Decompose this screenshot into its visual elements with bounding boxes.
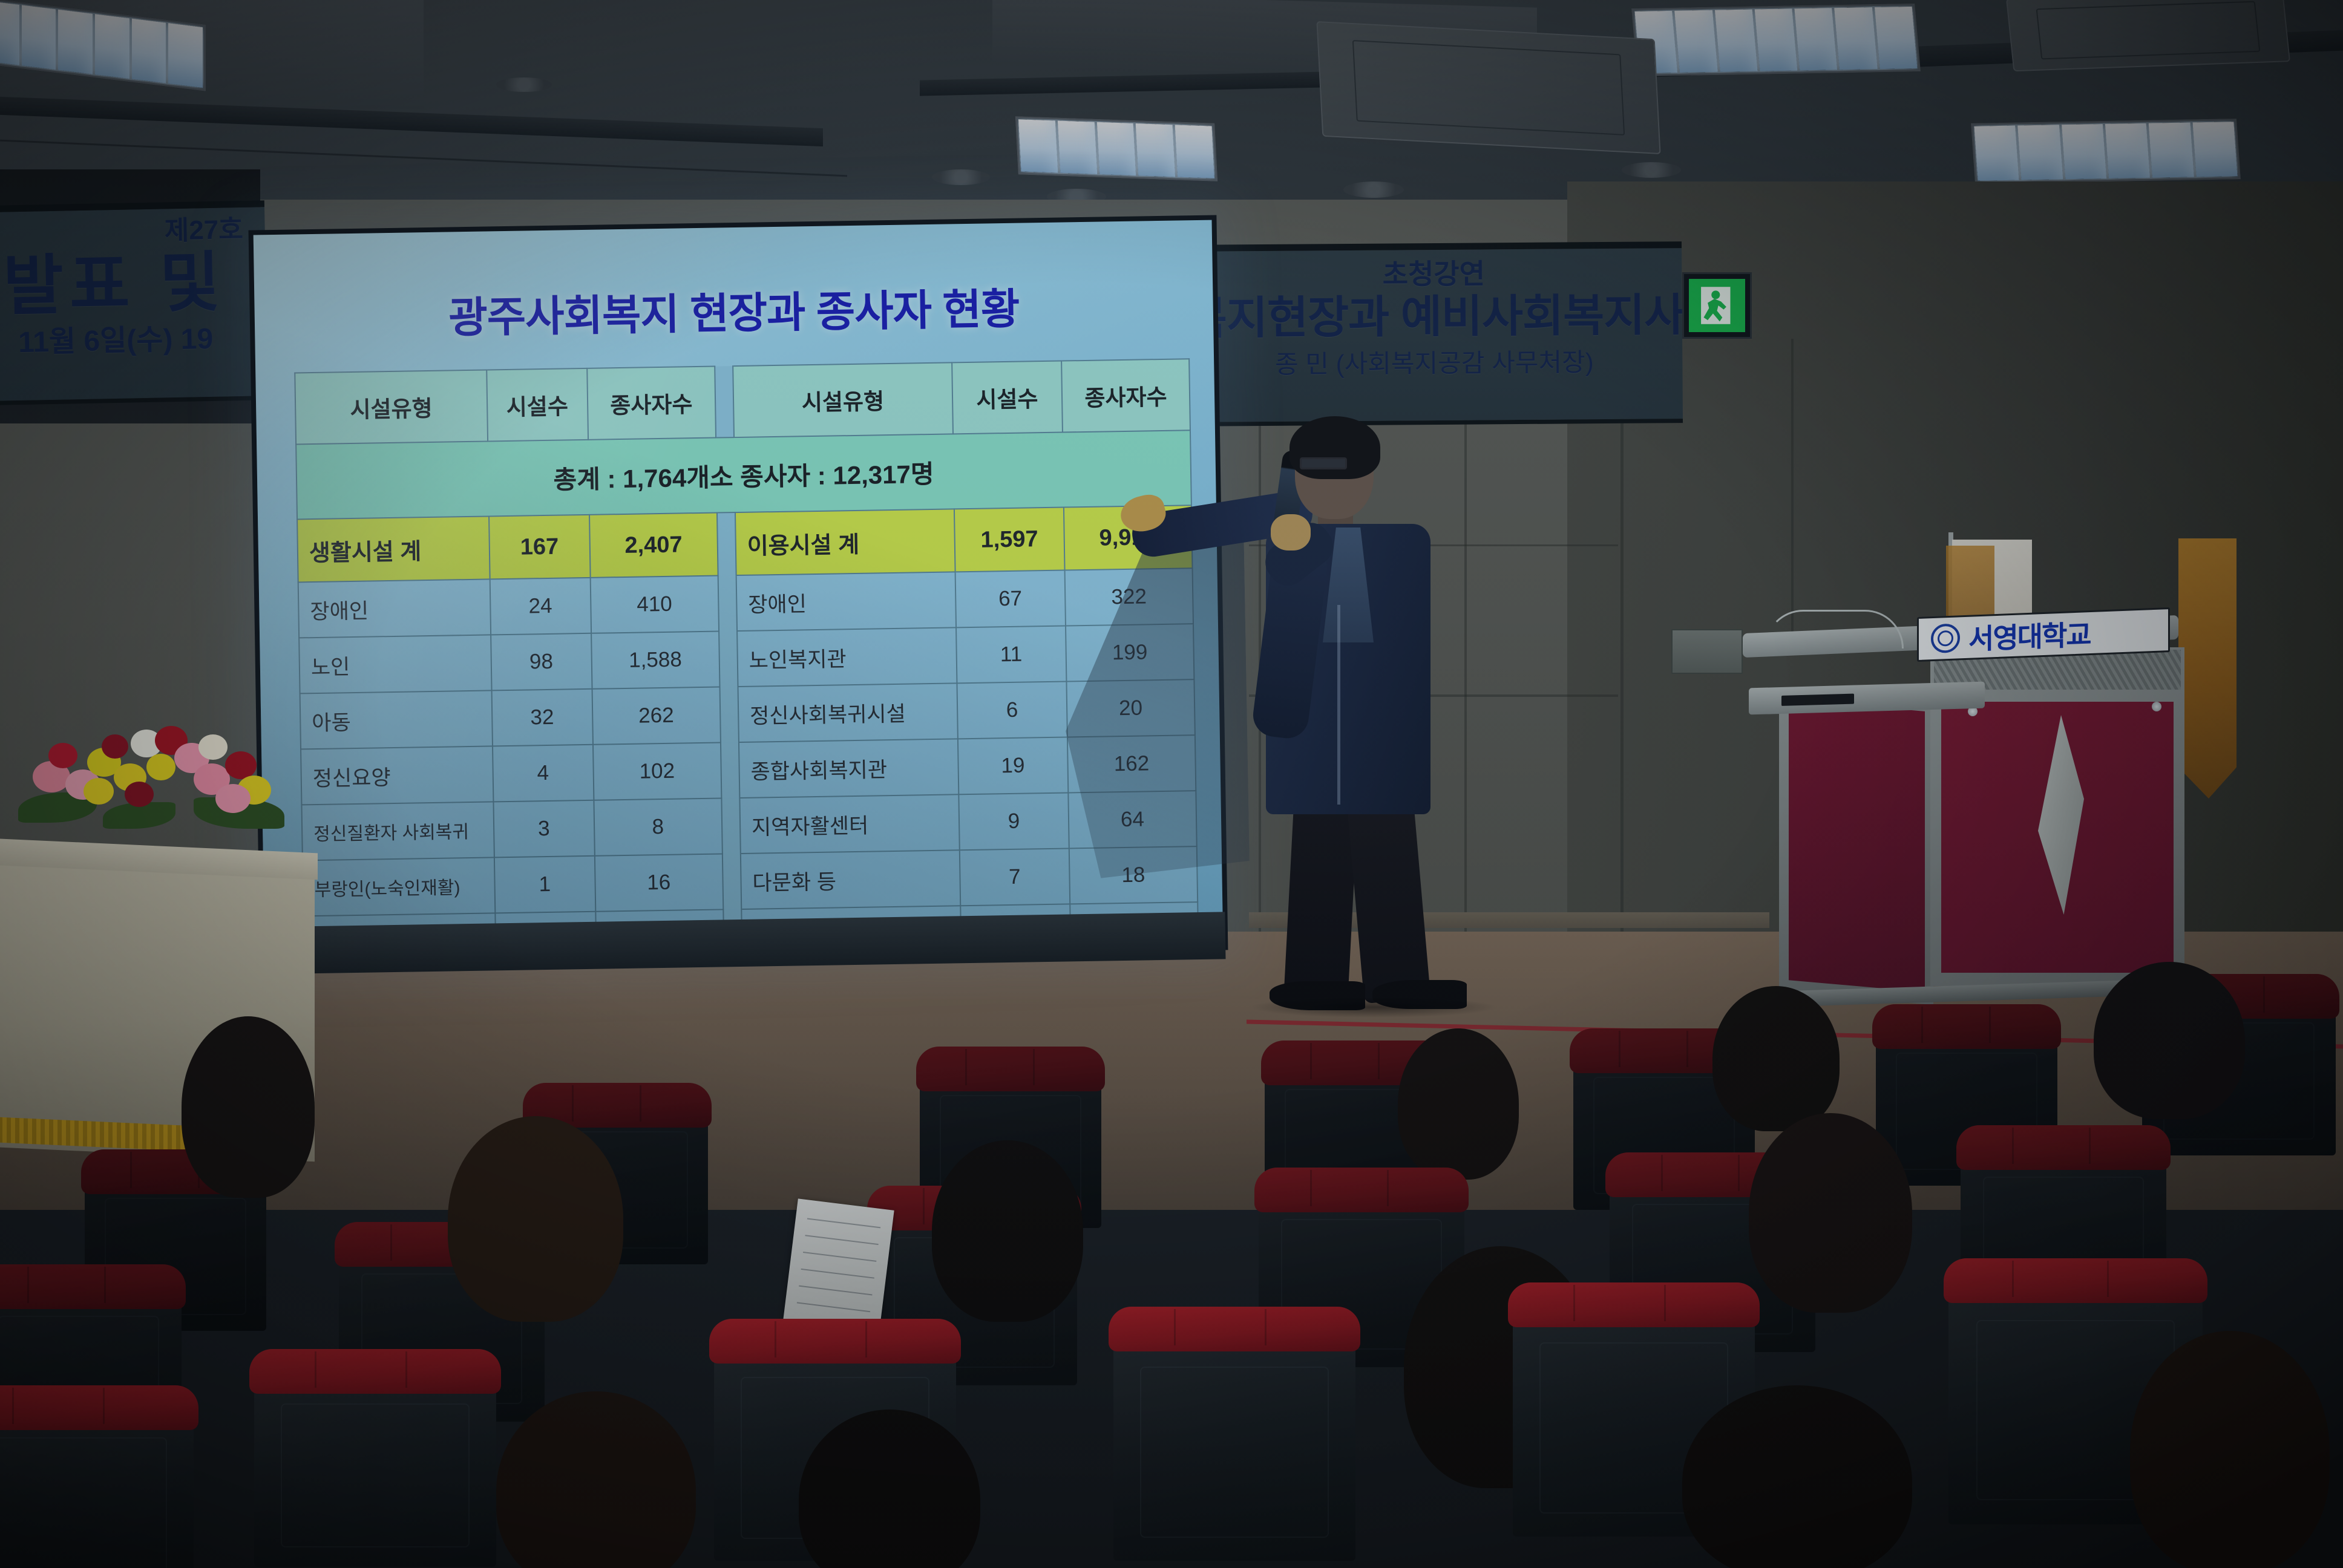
audience-head <box>1712 986 1840 1131</box>
row-label-right: 다문화 등 <box>741 850 960 909</box>
row-fac-left: 98 <box>491 633 592 691</box>
banner-right-line2: 복지현장과 예비사회복지사 <box>1186 292 1683 342</box>
row-wrk-right: 20 <box>1066 679 1195 737</box>
university-seal-icon <box>1931 623 1960 653</box>
banner-left: 제27호 발표 및 11월 6일(수) 19 <box>0 200 268 406</box>
row-fac-right: 7 <box>960 848 1070 906</box>
grand-total-cell: 총계 : 1,764개소 종사자 : 12,317명 <box>296 430 1191 519</box>
col-header-facility-type-right: 시설유형 <box>733 362 953 437</box>
row-fac-left: 32 <box>491 689 592 746</box>
row-fac-right: 67 <box>955 570 1065 628</box>
row-label-left: 장애인 <box>298 579 491 638</box>
subtotal-right-label: 이용시설 계 <box>735 509 955 575</box>
column-gap <box>717 512 736 575</box>
recessed-fluorescent-louver-panel <box>1015 116 1218 181</box>
projected-slide: 광주사회복지 현장과 종사자 현황 시설유형 시설수 종사자수 시설유형 시설수 <box>254 220 1224 961</box>
row-fac-right: 11 <box>956 626 1066 684</box>
speaker-leg-left <box>1283 797 1358 999</box>
row-wrk-right: 18 <box>1069 846 1198 904</box>
audience-head <box>2094 962 2245 1119</box>
row-label-left: 노인 <box>299 635 491 693</box>
column-gap <box>721 798 741 854</box>
row-wrk-right: 322 <box>1064 568 1193 626</box>
ceiling-cassette-air-conditioner <box>1316 21 1660 154</box>
wall-panel-seam <box>1464 363 1467 980</box>
banner-left-line2: 발표 및 <box>0 247 266 321</box>
subtotal-left-workers: 2,407 <box>589 513 718 578</box>
audience-head <box>1398 1028 1519 1180</box>
wall-control-plate[interactable] <box>1671 629 1743 674</box>
speaker-hair <box>1289 416 1380 479</box>
projection-screen: 광주사회복지 현장과 종사자 현황 시설유형 시설수 종사자수 시설유형 시설수 <box>249 215 1228 965</box>
row-fac-right: 9 <box>958 792 1069 850</box>
recessed-downlight <box>1343 181 1404 198</box>
podium-side-panel <box>1779 689 1933 1005</box>
speaker-floor-shadow <box>1253 997 1495 1018</box>
subtotal-left-label: 생활시설 계 <box>297 516 490 582</box>
col-header-facility-count-right: 시설수 <box>952 361 1063 434</box>
banner-right: 초청강연 복지현장과 예비사회복지사 종 민 (사회복지공감 사무처장) <box>1185 241 1683 426</box>
recessed-downlight <box>496 77 552 92</box>
audience-head <box>2130 1331 2330 1568</box>
row-fac-left: 1 <box>494 856 595 913</box>
audience-head <box>1682 1385 1912 1568</box>
row-wrk-left: 102 <box>593 742 722 800</box>
row-fac-left: 24 <box>490 578 591 635</box>
row-label-left: 정신질환자 사회복귀 <box>301 802 494 860</box>
podium-cable <box>1765 610 1904 648</box>
col-header-worker-count-right: 종사자수 <box>1061 359 1190 432</box>
audience-head <box>182 1016 315 1198</box>
banner-right-line3: 종 민 (사회복지공감 사무처장) <box>1186 348 1682 379</box>
row-label-right: 노인복지관 <box>737 627 957 687</box>
gooseneck-microphone-secondary <box>8 696 154 853</box>
column-gap <box>719 687 739 742</box>
podium-sign-text: 서영대학교 <box>1968 613 2091 658</box>
recessed-downlight <box>932 169 990 185</box>
column-gap <box>718 575 737 631</box>
podium-fastener <box>2152 702 2161 711</box>
glasses-icon <box>1300 457 1347 469</box>
row-wrk-left: 1,588 <box>591 632 720 689</box>
wall-panel-seam <box>1791 339 1794 653</box>
row-fac-right: 6 <box>957 682 1067 739</box>
column-gap <box>719 631 738 687</box>
row-fac-left: 4 <box>493 745 594 802</box>
column-gap <box>723 854 742 909</box>
row-wrk-right: 64 <box>1068 791 1197 848</box>
auditorium-photo: 제27호 발표 및 11월 6일(수) 19 초청강연 복지현장과 예비사회복지… <box>0 0 2343 1568</box>
row-wrk-left: 8 <box>594 798 723 855</box>
ceiling-cassette-air-conditioner <box>2006 0 2290 71</box>
slide-table: 시설유형 시설수 종사자수 시설유형 시설수 종사자수 총계 : 1,764개소… <box>294 358 1199 960</box>
row-wrk-right: 162 <box>1067 735 1196 792</box>
audience-head <box>932 1140 1083 1322</box>
banner-left-line3: 11월 6일(수) 19 <box>0 323 267 359</box>
banner-right-line1: 초청강연 <box>1185 258 1682 290</box>
auditorium-seat[interactable] <box>1113 1307 1355 1561</box>
banner-left-line1: 제27호 <box>0 215 265 249</box>
row-label-right: 장애인 <box>736 572 955 631</box>
subtotal-left-facilities: 167 <box>489 515 591 580</box>
row-wrk-left: 16 <box>594 854 723 911</box>
row-wrk-left: 262 <box>592 687 721 745</box>
row-label-right: 종합사회복지관 <box>739 739 958 798</box>
slide-title: 광주사회복지 현장과 종사자 현황 <box>254 272 1213 348</box>
auditorium-seat[interactable] <box>254 1349 496 1567</box>
decorative-drape <box>2178 538 2236 799</box>
recessed-fluorescent-louver-panel <box>1631 4 1921 76</box>
speaker-jacket-zipper <box>1337 605 1340 805</box>
table-row-grand-total: 총계 : 1,764개소 종사자 : 12,317명 <box>296 430 1191 519</box>
column-gap <box>721 742 740 798</box>
row-fac-left: 3 <box>493 800 594 858</box>
row-fac-right: 19 <box>958 737 1068 794</box>
row-wrk-left: 410 <box>590 576 719 633</box>
col-header-facility-count-left: 시설수 <box>487 368 588 442</box>
table-header-row: 시설유형 시설수 종사자수 시설유형 시설수 종사자수 <box>295 359 1190 444</box>
subtotal-right-facilities: 1,597 <box>954 508 1065 572</box>
audience-head <box>1749 1113 1912 1313</box>
auditorium-seat[interactable] <box>0 1385 194 1568</box>
row-label-right: 지역자활센터 <box>739 794 959 854</box>
row-label-left: 정신요양 <box>301 746 493 805</box>
emergency-exit-sign <box>1682 272 1752 339</box>
col-header-worker-count-left: 종사자수 <box>587 367 716 440</box>
row-label-right: 정신사회복귀시설 <box>738 683 957 742</box>
column-gap <box>715 366 734 437</box>
wall-panel-seam <box>1620 339 1624 992</box>
recessed-fluorescent-louver-panel <box>1971 119 2241 184</box>
row-wrk-right: 199 <box>1066 624 1194 681</box>
audience-head <box>448 1116 623 1322</box>
row-label-left: 아동 <box>300 690 493 749</box>
col-header-facility-type-left: 시설유형 <box>295 370 488 444</box>
speaker-mic-hand <box>1271 514 1311 550</box>
running-person-exit-icon <box>1689 279 1745 332</box>
recessed-downlight <box>1622 162 1681 178</box>
row-label-left: 부랑인(노숙인재활) <box>303 857 495 916</box>
